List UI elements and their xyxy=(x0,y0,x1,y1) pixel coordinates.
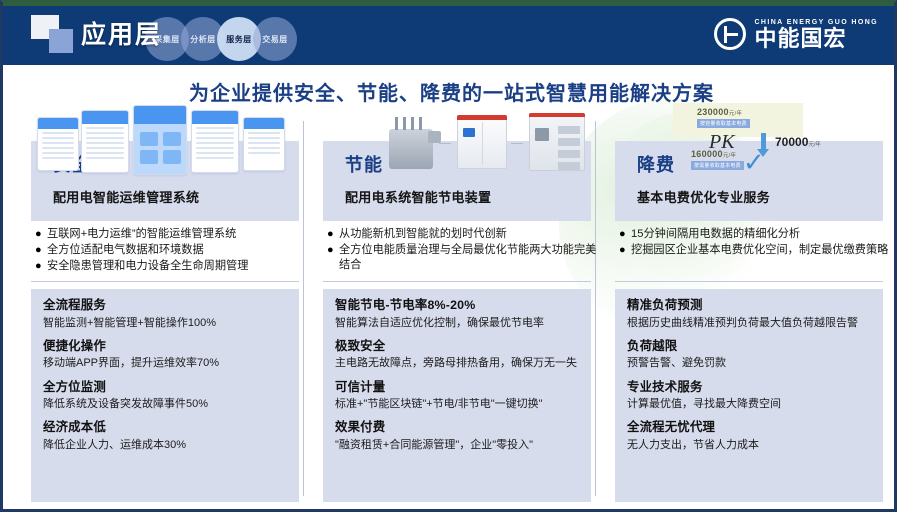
pk-upper-unit: 元/年 xyxy=(729,111,742,117)
feature-title: 负荷越限 xyxy=(627,339,873,355)
bullet-dot-icon: ● xyxy=(325,243,339,258)
company-name-cn: 中能国宏 xyxy=(754,28,878,50)
pk-lower-value: 160000元/年 xyxy=(691,149,736,159)
feature-title: 便捷化操作 xyxy=(43,339,289,355)
feature-item: 全流程无忧代理 无人力支出，节省人力成本 xyxy=(627,420,873,452)
feature-item: 专业技术服务 计算最优值，寻找最大降费空间 xyxy=(627,380,873,412)
bullet-dot-icon: ● xyxy=(33,259,47,274)
slide-root: 采集层 分析层 服务层 交易层 应用层 CHINA ENERGY GUO HON… xyxy=(0,0,897,512)
feature-item: 负荷越限 预警告警、避免罚款 xyxy=(627,339,873,371)
column-cost-reduction-rule xyxy=(615,281,883,282)
list-item: ● 15分钟间隔用电数据的精细化分析 xyxy=(617,227,889,242)
column-cost-reduction-features: 精准负荷预测 根据历史曲线精准预判负荷最大值负荷越限告警 负荷越限 预警告警、避… xyxy=(615,289,883,502)
feature-desc: 智能算法自适应优化控制，确保最优节电率 xyxy=(335,316,581,330)
feature-title: 精准负荷预测 xyxy=(627,298,873,314)
checkmark-icon: ✓ xyxy=(743,149,765,175)
feature-item: 精准负荷预测 根据历史曲线精准预判负荷最大值负荷越限告警 xyxy=(627,298,873,330)
feature-desc: 无人力支出，节省人力成本 xyxy=(627,438,873,452)
list-item: ● 挖掘园区企业基本电费优化空间，制定最优缴费策略 xyxy=(617,243,889,258)
column-safety-rule xyxy=(31,281,299,282)
feature-desc: 降低企业人力、运维成本30% xyxy=(43,438,289,452)
feature-item: 经济成本低 降低企业人力、运维成本30% xyxy=(43,420,289,452)
transformer-icon xyxy=(389,129,433,169)
connector-dash xyxy=(511,143,523,144)
control-cabinet-icon xyxy=(457,115,507,169)
bullet-text: 互联网+电力运维”的智能运维管理系统 xyxy=(47,227,305,242)
feature-item: 全流程服务 智能监测+智能管理+智能操作100% xyxy=(43,298,289,330)
bullet-text: 15分钟间隔用电数据的精细化分析 xyxy=(631,227,889,242)
feature-item: 智能节电-节电率8%-20% 智能算法自适应优化控制，确保最优节电率 xyxy=(335,298,581,330)
feature-title: 全流程无忧代理 xyxy=(627,420,873,436)
column-safety-artwork xyxy=(19,103,299,175)
logo-square-blue xyxy=(49,29,73,53)
feature-item: 极致安全 主电路无故障点，旁路母排热备用，确保万无一失 xyxy=(335,339,581,371)
feature-title: 可信计量 xyxy=(335,380,581,396)
pk-lower-unit: 元/年 xyxy=(723,153,736,159)
feature-desc: 智能监测+智能管理+智能操作100% xyxy=(43,316,289,330)
bullet-dot-icon: ● xyxy=(33,243,47,258)
pk-comparison-chart: 230000元/年 按容量收取基本电费 PK 160000元/年 按需量收取基本… xyxy=(623,103,873,177)
feature-desc: 主电路无故障点，旁路母排热备用，确保万无一失 xyxy=(335,356,581,370)
feature-title: 经济成本低 xyxy=(43,420,289,436)
list-item: ● 全方位电能质量治理与全局最优化节能两大功能完美结合 xyxy=(325,243,597,273)
phone-mockup xyxy=(81,110,129,173)
phone-mockup-featured xyxy=(133,105,187,175)
column-energy-saving-features: 智能节电-节电率8%-20% 智能算法自适应优化控制，确保最优节电率 极致安全 … xyxy=(323,289,591,502)
feature-desc: 计算最优值，寻找最大降费空间 xyxy=(627,397,873,411)
column-safety-bullets: ● 互联网+电力运维”的智能运维管理系统 ● 全方位适配电气数据和环境数据 ● … xyxy=(33,227,305,275)
bullet-text: 安全隐患管理和电力设备全生命周期管理 xyxy=(47,259,305,274)
pk-upper-number: 230000 xyxy=(697,107,729,117)
bullet-text: 全方位适配电气数据和环境数据 xyxy=(47,243,305,258)
column-energy-saving-rule xyxy=(323,281,591,282)
feature-item: 全方位监测 降低系统及设备突发故障事件50% xyxy=(43,380,289,412)
column-cost-reduction-bullets: ● 15分钟间隔用电数据的精细化分析 ● 挖掘园区企业基本电费优化空间，制定最优… xyxy=(617,227,889,259)
switchgear-panel-icon xyxy=(529,113,585,171)
layer-circle-label: 分析层 xyxy=(190,34,216,45)
column-energy-saving-artwork xyxy=(311,103,591,175)
list-item: ● 互联网+电力运维”的智能运维管理系统 xyxy=(33,227,305,242)
feature-item: 效果付费 "融资租赁+合同能源管理"，企业"零投入" xyxy=(335,420,581,452)
bullet-dot-icon: ● xyxy=(325,227,339,242)
bullet-dot-icon: ● xyxy=(617,227,631,242)
header-bar: 采集层 分析层 服务层 交易层 应用层 CHINA ENERGY GUO HON… xyxy=(3,3,897,65)
bullet-text: 从功能新机到智能就的划时代创新 xyxy=(339,227,597,242)
power-equipment-icon xyxy=(389,107,589,175)
column-subtitle: 配用电智能运维管理系统 xyxy=(53,187,299,206)
feature-desc: 根据历史曲线精准预判负荷最大值负荷越限告警 xyxy=(627,316,873,330)
bullet-text: 挖掘园区企业基本电费优化空间，制定最优缴费策略 xyxy=(631,243,889,258)
company-logo: CHINA ENERGY GUO HONG 中能国宏 xyxy=(714,16,878,52)
pk-lower-label: 按需量收取基本电费 xyxy=(691,161,744,170)
column-subtitle: 基本电费优化专业服务 xyxy=(637,187,883,206)
pk-lower-number: 160000 xyxy=(691,149,723,159)
phone-mockup xyxy=(191,110,239,173)
page-title: 为企业提供安全、节能、降费的一站式智慧用能解决方案 xyxy=(3,77,897,106)
column-safety-features: 全流程服务 智能监测+智能管理+智能操作100% 便捷化操作 移动端APP界面，… xyxy=(31,289,299,502)
mobile-app-screens-icon xyxy=(37,105,287,175)
column-energy-saving-bullets: ● 从功能新机到智能就的划时代创新 ● 全方位电能质量治理与全局最优化节能两大功… xyxy=(325,227,597,274)
bullet-text: 全方位电能质量治理与全局最优化节能两大功能完美结合 xyxy=(339,243,597,273)
bullet-dot-icon: ● xyxy=(617,243,631,258)
app-layer-logo-icon xyxy=(31,15,77,55)
header-title: 应用层 xyxy=(81,15,162,51)
list-item: ● 全方位适配电气数据和环境数据 xyxy=(33,243,305,258)
feature-title: 专业技术服务 xyxy=(627,380,873,396)
pk-upper-value: 230000元/年 xyxy=(697,107,742,117)
pk-upper-label: 按容量收取基本电费 xyxy=(697,119,750,128)
feature-title: 极致安全 xyxy=(335,339,581,355)
feature-desc: 标准+"节能区块链"+节电/非节电"一键切换" xyxy=(335,397,581,411)
layer-circle-transaction[interactable]: 交易层 xyxy=(253,17,297,61)
company-mark-icon xyxy=(714,18,746,50)
columns-container: 安全 配用电智能运维管理系统 ● 互联网+电力运维”的智能运维管理系统 ● 全方… xyxy=(3,103,897,503)
bullet-dot-icon: ● xyxy=(33,227,47,242)
company-name-en: CHINA ENERGY GUO HONG xyxy=(754,19,878,26)
feature-desc: 降低系统及设备突发故障事件50% xyxy=(43,397,289,411)
feature-item: 可信计量 标准+"节能区块链"+节电/非节电"一键切换" xyxy=(335,380,581,412)
list-item: ● 从功能新机到智能就的划时代创新 xyxy=(325,227,597,242)
phone-mockup xyxy=(37,117,79,171)
feature-desc: 移动端APP界面，提升运维效率70% xyxy=(43,356,289,370)
pk-delta-unit: 元/年 xyxy=(808,142,821,148)
pk-delta-number: 70000 xyxy=(775,135,808,149)
list-item: ● 安全隐患管理和电力设备全生命周期管理 xyxy=(33,259,305,274)
feature-item: 便捷化操作 移动端APP界面，提升运维效率70% xyxy=(43,339,289,371)
column-subtitle: 配用电系统智能节电装置 xyxy=(345,187,591,206)
column-cost-reduction-artwork: 230000元/年 按容量收取基本电费 PK 160000元/年 按需量收取基本… xyxy=(603,103,883,175)
feature-title: 效果付费 xyxy=(335,420,581,436)
feature-title: 智能节电-节电率8%-20% xyxy=(335,298,581,314)
feature-title: 全方位监测 xyxy=(43,380,289,396)
layer-circle-label: 服务层 xyxy=(226,34,252,45)
phone-mockup xyxy=(243,117,285,171)
feature-title: 全流程服务 xyxy=(43,298,289,314)
feature-desc: "融资租赁+合同能源管理"，企业"零投入" xyxy=(335,438,581,452)
feature-desc: 预警告警、避免罚款 xyxy=(627,356,873,370)
connector-dash xyxy=(439,143,451,144)
pk-delta-value: 70000元/年 xyxy=(775,135,821,149)
layer-circle-label: 交易层 xyxy=(262,34,288,45)
